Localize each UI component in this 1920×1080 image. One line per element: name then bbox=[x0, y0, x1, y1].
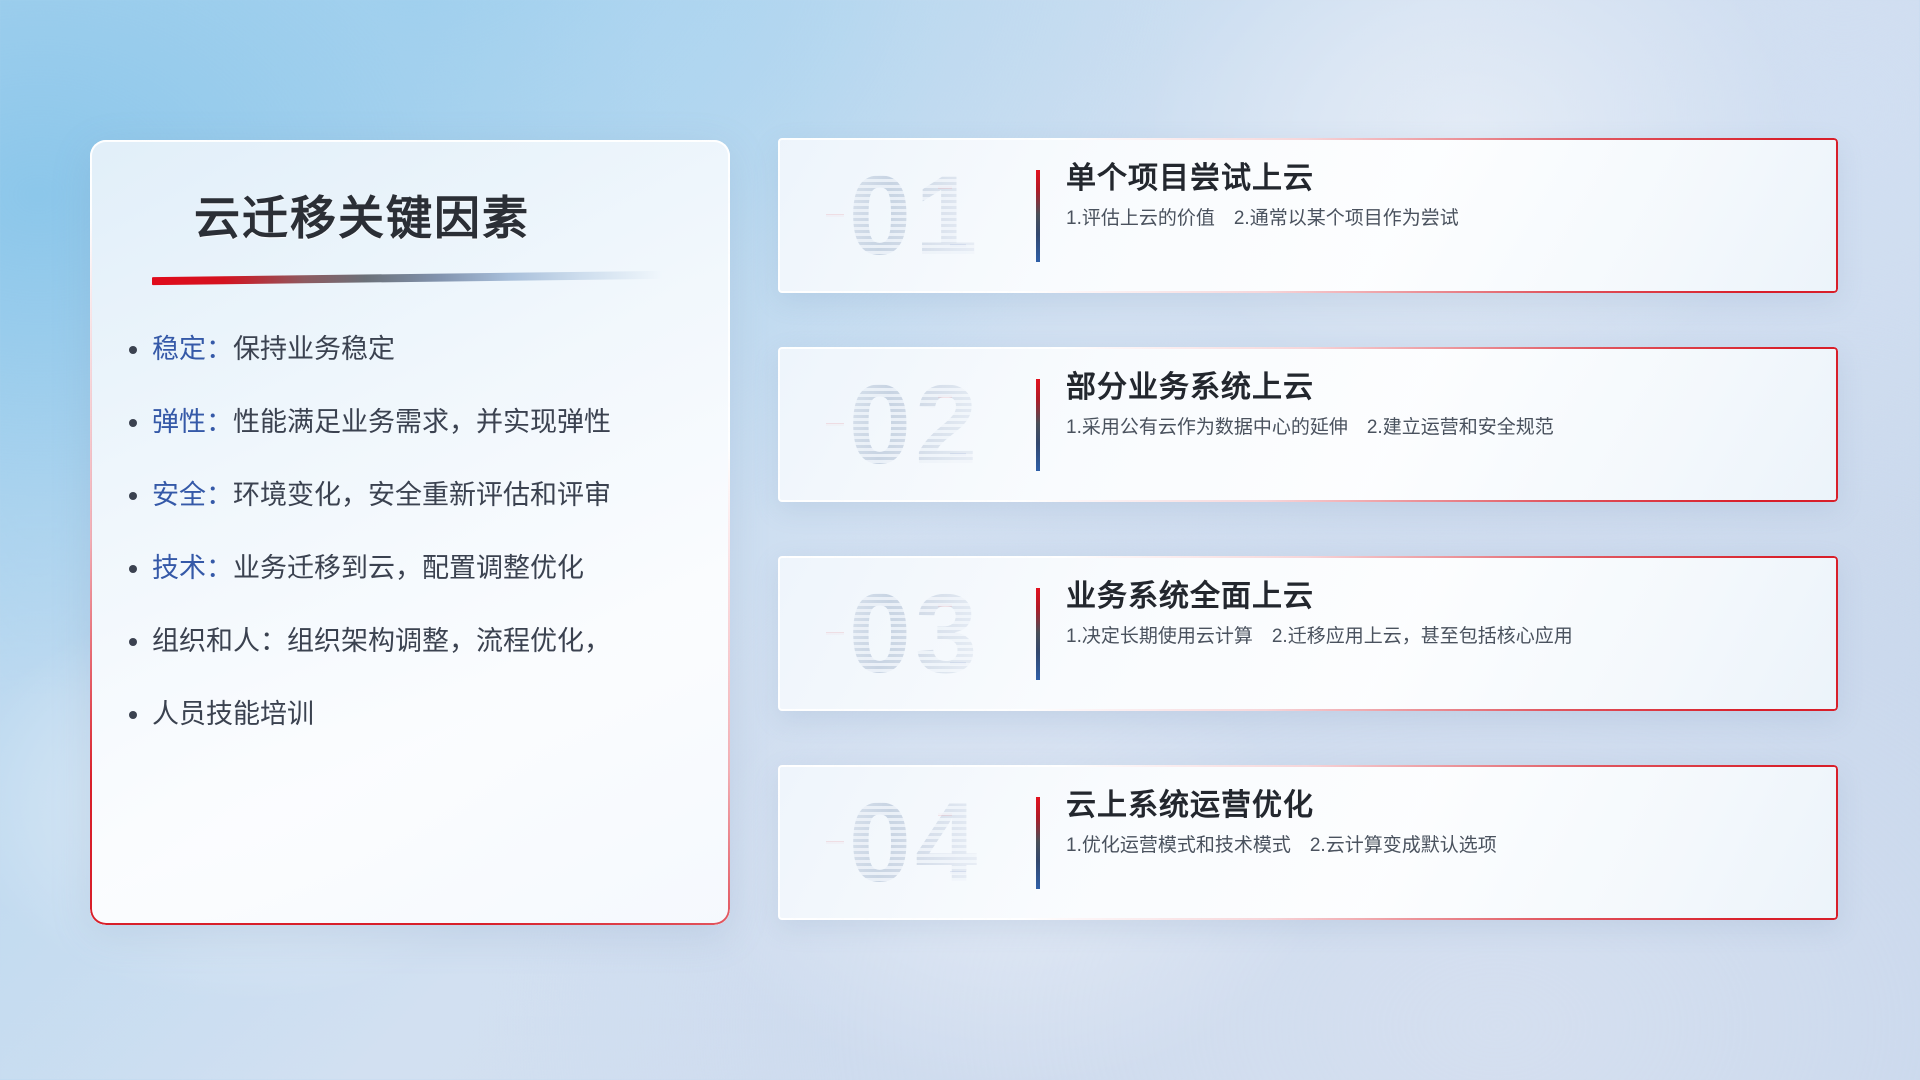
list-item-value: 性能满足业务需求，并实现弹性 bbox=[233, 407, 611, 437]
stage-description: 1.优化运营模式和技术模式 2.云计算变成默认选项 bbox=[1066, 833, 1814, 859]
stage-number: 04 bbox=[810, 779, 1020, 905]
stage-description: 1.采用公有云作为数据中心的延伸 2.建立运营和安全规范 bbox=[1066, 415, 1814, 441]
stage-number: 03 bbox=[810, 570, 1020, 696]
list-item-label: 弹性： bbox=[152, 407, 233, 437]
stage-card-body: 业务系统全面上云 1.决定长期使用云计算 2.迁移应用上云，甚至包括核心应用 bbox=[1066, 578, 1814, 650]
stage-number: 01 bbox=[810, 152, 1020, 278]
list-item: 技术：业务迁移到云，配置调整优化 bbox=[152, 555, 696, 582]
list-item-value: 业务迁移到云，配置调整优化 bbox=[233, 553, 584, 583]
stage-accent-bar bbox=[1036, 797, 1040, 889]
stage-title: 业务系统全面上云 bbox=[1066, 578, 1814, 616]
list-item-continuation-text: 人员技能培训 bbox=[152, 699, 314, 729]
list-item-continuation: 人员技能培训 bbox=[152, 701, 696, 728]
stage-card-body: 云上系统运营优化 1.优化运营模式和技术模式 2.云计算变成默认选项 bbox=[1066, 787, 1814, 859]
list-item-value: 组织架构调整，流程优化， bbox=[287, 626, 611, 656]
stage-card-body: 单个项目尝试上云 1.评估上云的价值 2.通常以某个项目作为尝试 bbox=[1066, 160, 1814, 232]
list-item-label: 安全： bbox=[152, 480, 233, 510]
stage-card[interactable]: 04 云上系统运营优化 1.优化运营模式和技术模式 2.云计算变成默认选项 bbox=[778, 765, 1838, 920]
list-item-label: 组织和人： bbox=[152, 626, 287, 656]
migration-stage-cards: 01 单个项目尝试上云 1.评估上云的价值 2.通常以某个项目作为尝试 02 部… bbox=[778, 138, 1838, 974]
stage-number: 02 bbox=[810, 361, 1020, 487]
list-item-value: 保持业务稳定 bbox=[233, 334, 395, 364]
list-item: 安全：环境变化，安全重新评估和评审 bbox=[152, 482, 696, 509]
list-item: 组织和人：组织架构调整，流程优化， bbox=[152, 628, 696, 655]
title-underline-rule bbox=[152, 271, 662, 285]
stage-accent-bar bbox=[1036, 379, 1040, 471]
list-item-label: 稳定： bbox=[152, 334, 233, 364]
key-factors-panel: 云迁移关键因素 稳定：保持业务稳定 弹性：性能满足业务需求，并实现弹性 安全：环… bbox=[90, 140, 730, 925]
stage-card-body: 部分业务系统上云 1.采用公有云作为数据中心的延伸 2.建立运营和安全规范 bbox=[1066, 369, 1814, 441]
list-item-value: 环境变化，安全重新评估和评审 bbox=[233, 480, 611, 510]
stage-description: 1.决定长期使用云计算 2.迁移应用上云，甚至包括核心应用 bbox=[1066, 624, 1814, 650]
stage-title: 部分业务系统上云 bbox=[1066, 369, 1814, 407]
stage-description: 1.评估上云的价值 2.通常以某个项目作为尝试 bbox=[1066, 206, 1814, 232]
key-factors-list: 稳定：保持业务稳定 弹性：性能满足业务需求，并实现弹性 安全：环境变化，安全重新… bbox=[152, 336, 696, 728]
stage-title: 单个项目尝试上云 bbox=[1066, 160, 1814, 198]
stage-title: 云上系统运营优化 bbox=[1066, 787, 1814, 825]
stage-accent-bar bbox=[1036, 588, 1040, 680]
list-item: 稳定：保持业务稳定 bbox=[152, 336, 696, 363]
stage-accent-bar bbox=[1036, 170, 1040, 262]
stage-card[interactable]: 03 业务系统全面上云 1.决定长期使用云计算 2.迁移应用上云，甚至包括核心应… bbox=[778, 556, 1838, 711]
list-item: 弹性：性能满足业务需求，并实现弹性 bbox=[152, 409, 696, 436]
panel-title: 云迁移关键因素 bbox=[194, 182, 530, 248]
stage-card[interactable]: 02 部分业务系统上云 1.采用公有云作为数据中心的延伸 2.建立运营和安全规范 bbox=[778, 347, 1838, 502]
stage-card[interactable]: 01 单个项目尝试上云 1.评估上云的价值 2.通常以某个项目作为尝试 bbox=[778, 138, 1838, 293]
list-item-label: 技术： bbox=[152, 553, 233, 583]
